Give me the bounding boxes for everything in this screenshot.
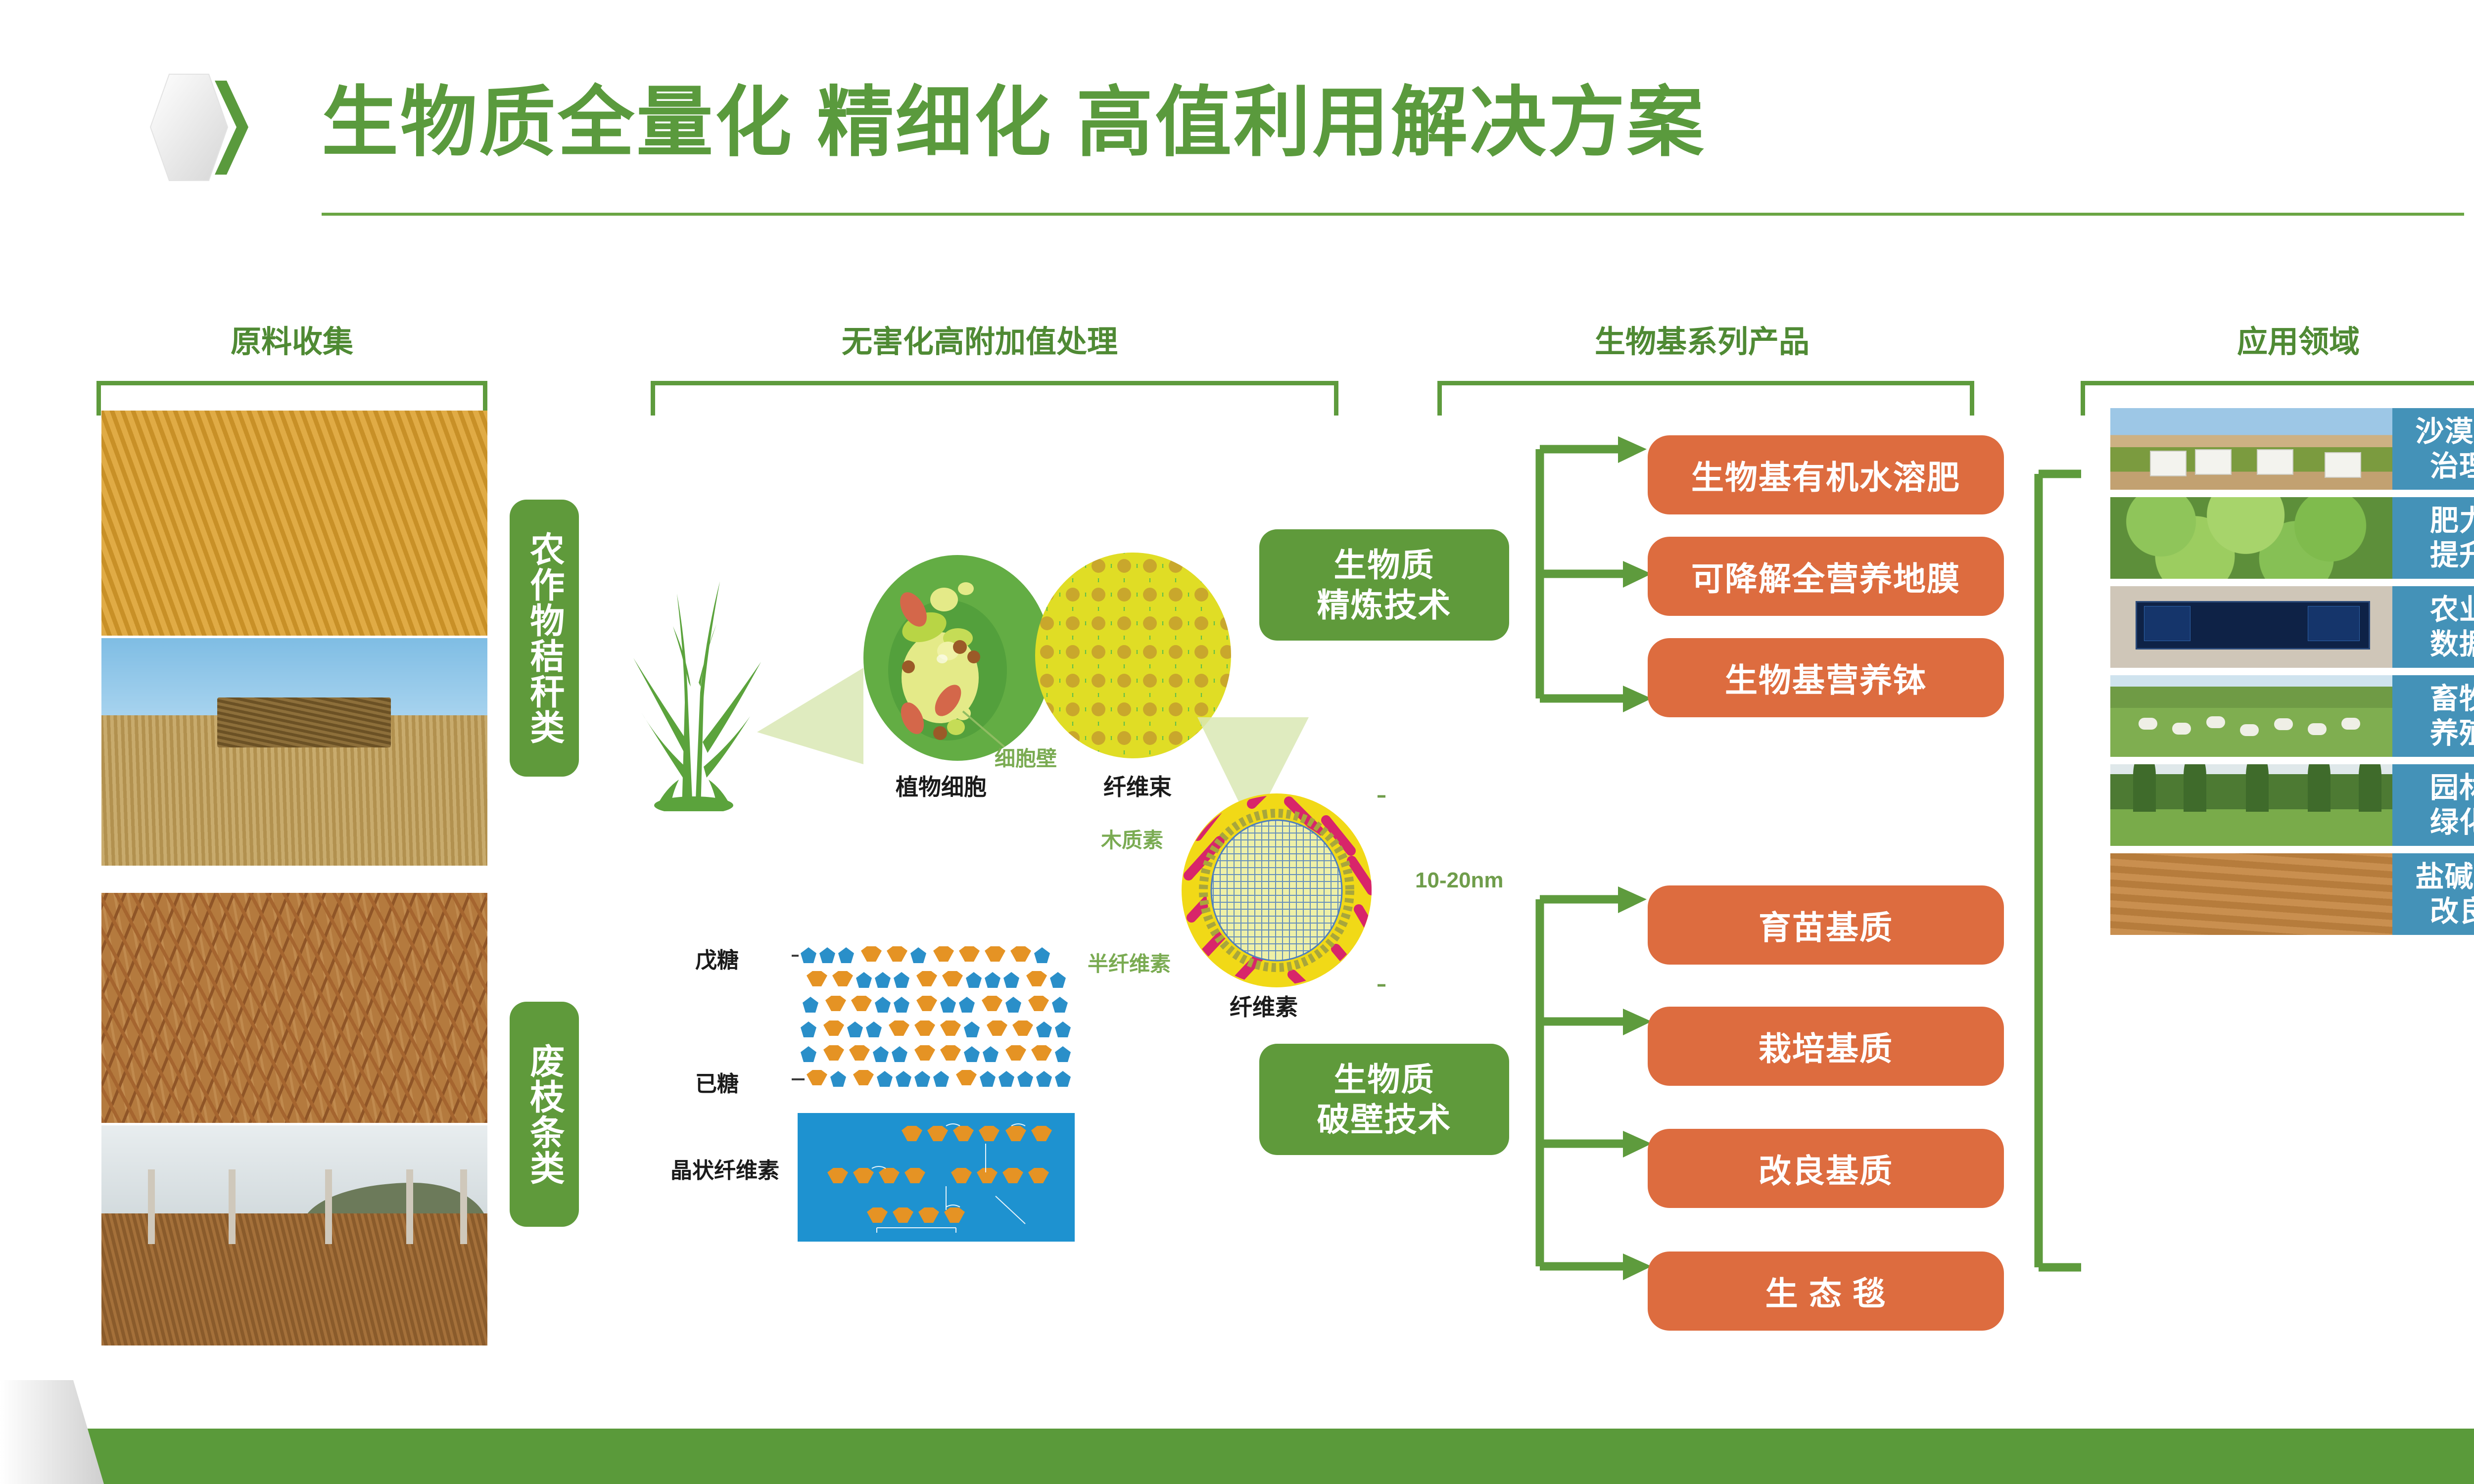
section-header-processing: 无害化高附加值处理 (633, 317, 1326, 361)
photo-pruned-branches (101, 893, 487, 1123)
application-label-line2: 绿化 (2430, 805, 2474, 840)
photo-corn-stover-field (101, 411, 487, 636)
application-row[interactable]: 农业 数据 (2110, 586, 2474, 668)
caption-crystalline-cellulose: 晶状纤维素 (670, 1153, 779, 1184)
product-box[interactable]: 生 态 毯 (1648, 1252, 2004, 1331)
application-label: 肥力 提升 (2392, 497, 2474, 579)
arrow-group-refining (1514, 425, 1663, 732)
application-label-line2: 数据 (2430, 627, 2474, 662)
application-label-line1: 盐碱地 (2415, 860, 2474, 894)
application-label-line1: 沙漠化 (2415, 415, 2474, 449)
tech-box-line2: 破壁技术 (1317, 1100, 1452, 1140)
application-label-line2: 养殖 (2430, 716, 2474, 751)
cellulose-cross-section-illustration (1178, 791, 1385, 989)
sugar-chain-illustration (792, 945, 1098, 1108)
caption-fiber-bundle: 纤维束 (1103, 769, 1172, 802)
product-box[interactable]: 生物基有机水溶肥 (1648, 435, 2004, 514)
magnify-ray-1-icon (757, 658, 866, 772)
application-label-line2: 治理 (2415, 449, 2474, 484)
application-label: 畜牧 养殖 (2392, 675, 2474, 757)
application-row[interactable]: 盐碱地 改良 (2110, 853, 2474, 935)
feedstock-category-label: 废枝条类 (526, 1043, 562, 1186)
caption-pentose: 戊糖 (695, 942, 739, 974)
photo-agriculture-data-center (2110, 586, 2392, 668)
section-header-applications: 应用领域 (2073, 317, 2474, 361)
caption-fiber-dimension: 10-20nm (1415, 868, 1504, 893)
application-label-line2: 改良 (2415, 894, 2474, 929)
arrow-group-breaking (1514, 871, 1663, 1296)
tech-box-line1: 生物质 (1317, 1060, 1452, 1100)
application-label: 盐碱地 改良 (2392, 853, 2474, 935)
application-label-line1: 肥力 (2430, 504, 2474, 538)
application-label-line1: 农业 (2430, 593, 2474, 627)
product-box[interactable]: 育苗基质 (1648, 885, 2004, 965)
caption-hexose: 已糖 (695, 1066, 739, 1098)
application-label: 农业 数据 (2392, 586, 2474, 668)
application-row[interactable]: 肥力 提升 (2110, 497, 2474, 579)
photo-cabbage-field (2110, 497, 2392, 579)
hexagon-badge-icon (140, 72, 253, 183)
tech-box-line1: 生物质 (1317, 545, 1452, 585)
application-row[interactable]: 畜牧 养殖 (2110, 675, 2474, 757)
bracket-processing (651, 381, 1338, 416)
application-label: 沙漠化 治理 (2392, 408, 2474, 490)
application-label: 园林 绿化 (2392, 764, 2474, 846)
application-label-line1: 畜牧 (2430, 682, 2474, 716)
infographic-canvas: 生物质全量化 精细化 高值利用解决方案 原料收集 无害化高附加值处理 生物基系列… (0, 0, 2474, 1484)
photo-landscape-greening (2110, 764, 2392, 846)
crystalline-cellulose-panel (798, 1113, 1075, 1242)
photo-saline-alkali-land (2110, 853, 2392, 935)
product-box[interactable]: 可降解全营养地膜 (1648, 537, 2004, 616)
caption-hemicellulose: 半纤维素 (1088, 947, 1171, 977)
photo-desert-control-site (2110, 408, 2392, 490)
caption-cellulose: 纤维素 (1230, 989, 1298, 1022)
caption-lignin: 木质素 (1101, 824, 1163, 854)
bracket-products-to-applications (2034, 470, 2093, 1271)
application-row[interactable]: 园林 绿化 (2110, 764, 2474, 846)
tech-box-cellwall-breaking[interactable]: 生物质 破壁技术 (1259, 1044, 1509, 1155)
bottom-wedge-decoration (0, 1360, 119, 1484)
bracket-products (1437, 381, 1974, 416)
product-box[interactable]: 改良基质 (1648, 1129, 2004, 1208)
photo-vineyard-pruning (101, 1125, 487, 1345)
section-header-products: 生物基系列产品 (1425, 317, 1979, 361)
product-box[interactable]: 栽培基质 (1648, 1007, 2004, 1086)
tech-box-refining[interactable]: 生物质 精炼技术 (1259, 529, 1509, 641)
application-row[interactable]: 沙漠化 治理 (2110, 408, 2474, 490)
photo-sheep-grazing-pasture (2110, 675, 2392, 757)
page-title: 生物质全量化 精细化 高值利用解决方案 (322, 84, 1706, 161)
plant-cell-illustration (861, 554, 1054, 762)
caption-plant-cell: 植物细胞 (896, 769, 987, 802)
product-box[interactable]: 生物基营养钵 (1648, 638, 2004, 717)
bottom-green-bar (0, 1429, 2474, 1484)
title-underline (322, 213, 2464, 216)
feedstock-category-label: 农作物秸秆类 (526, 531, 562, 745)
section-header-raw-material: 原料收集 (94, 317, 490, 361)
application-label-line1: 园林 (2430, 771, 2474, 805)
feedstock-category-waste-branches: 废枝条类 (510, 1002, 579, 1227)
application-label-line2: 提升 (2430, 538, 2474, 573)
tech-box-line2: 精炼技术 (1317, 585, 1452, 625)
photo-straw-bale-field (101, 638, 487, 866)
feedstock-category-crop-straw: 农作物秸秆类 (510, 500, 579, 777)
